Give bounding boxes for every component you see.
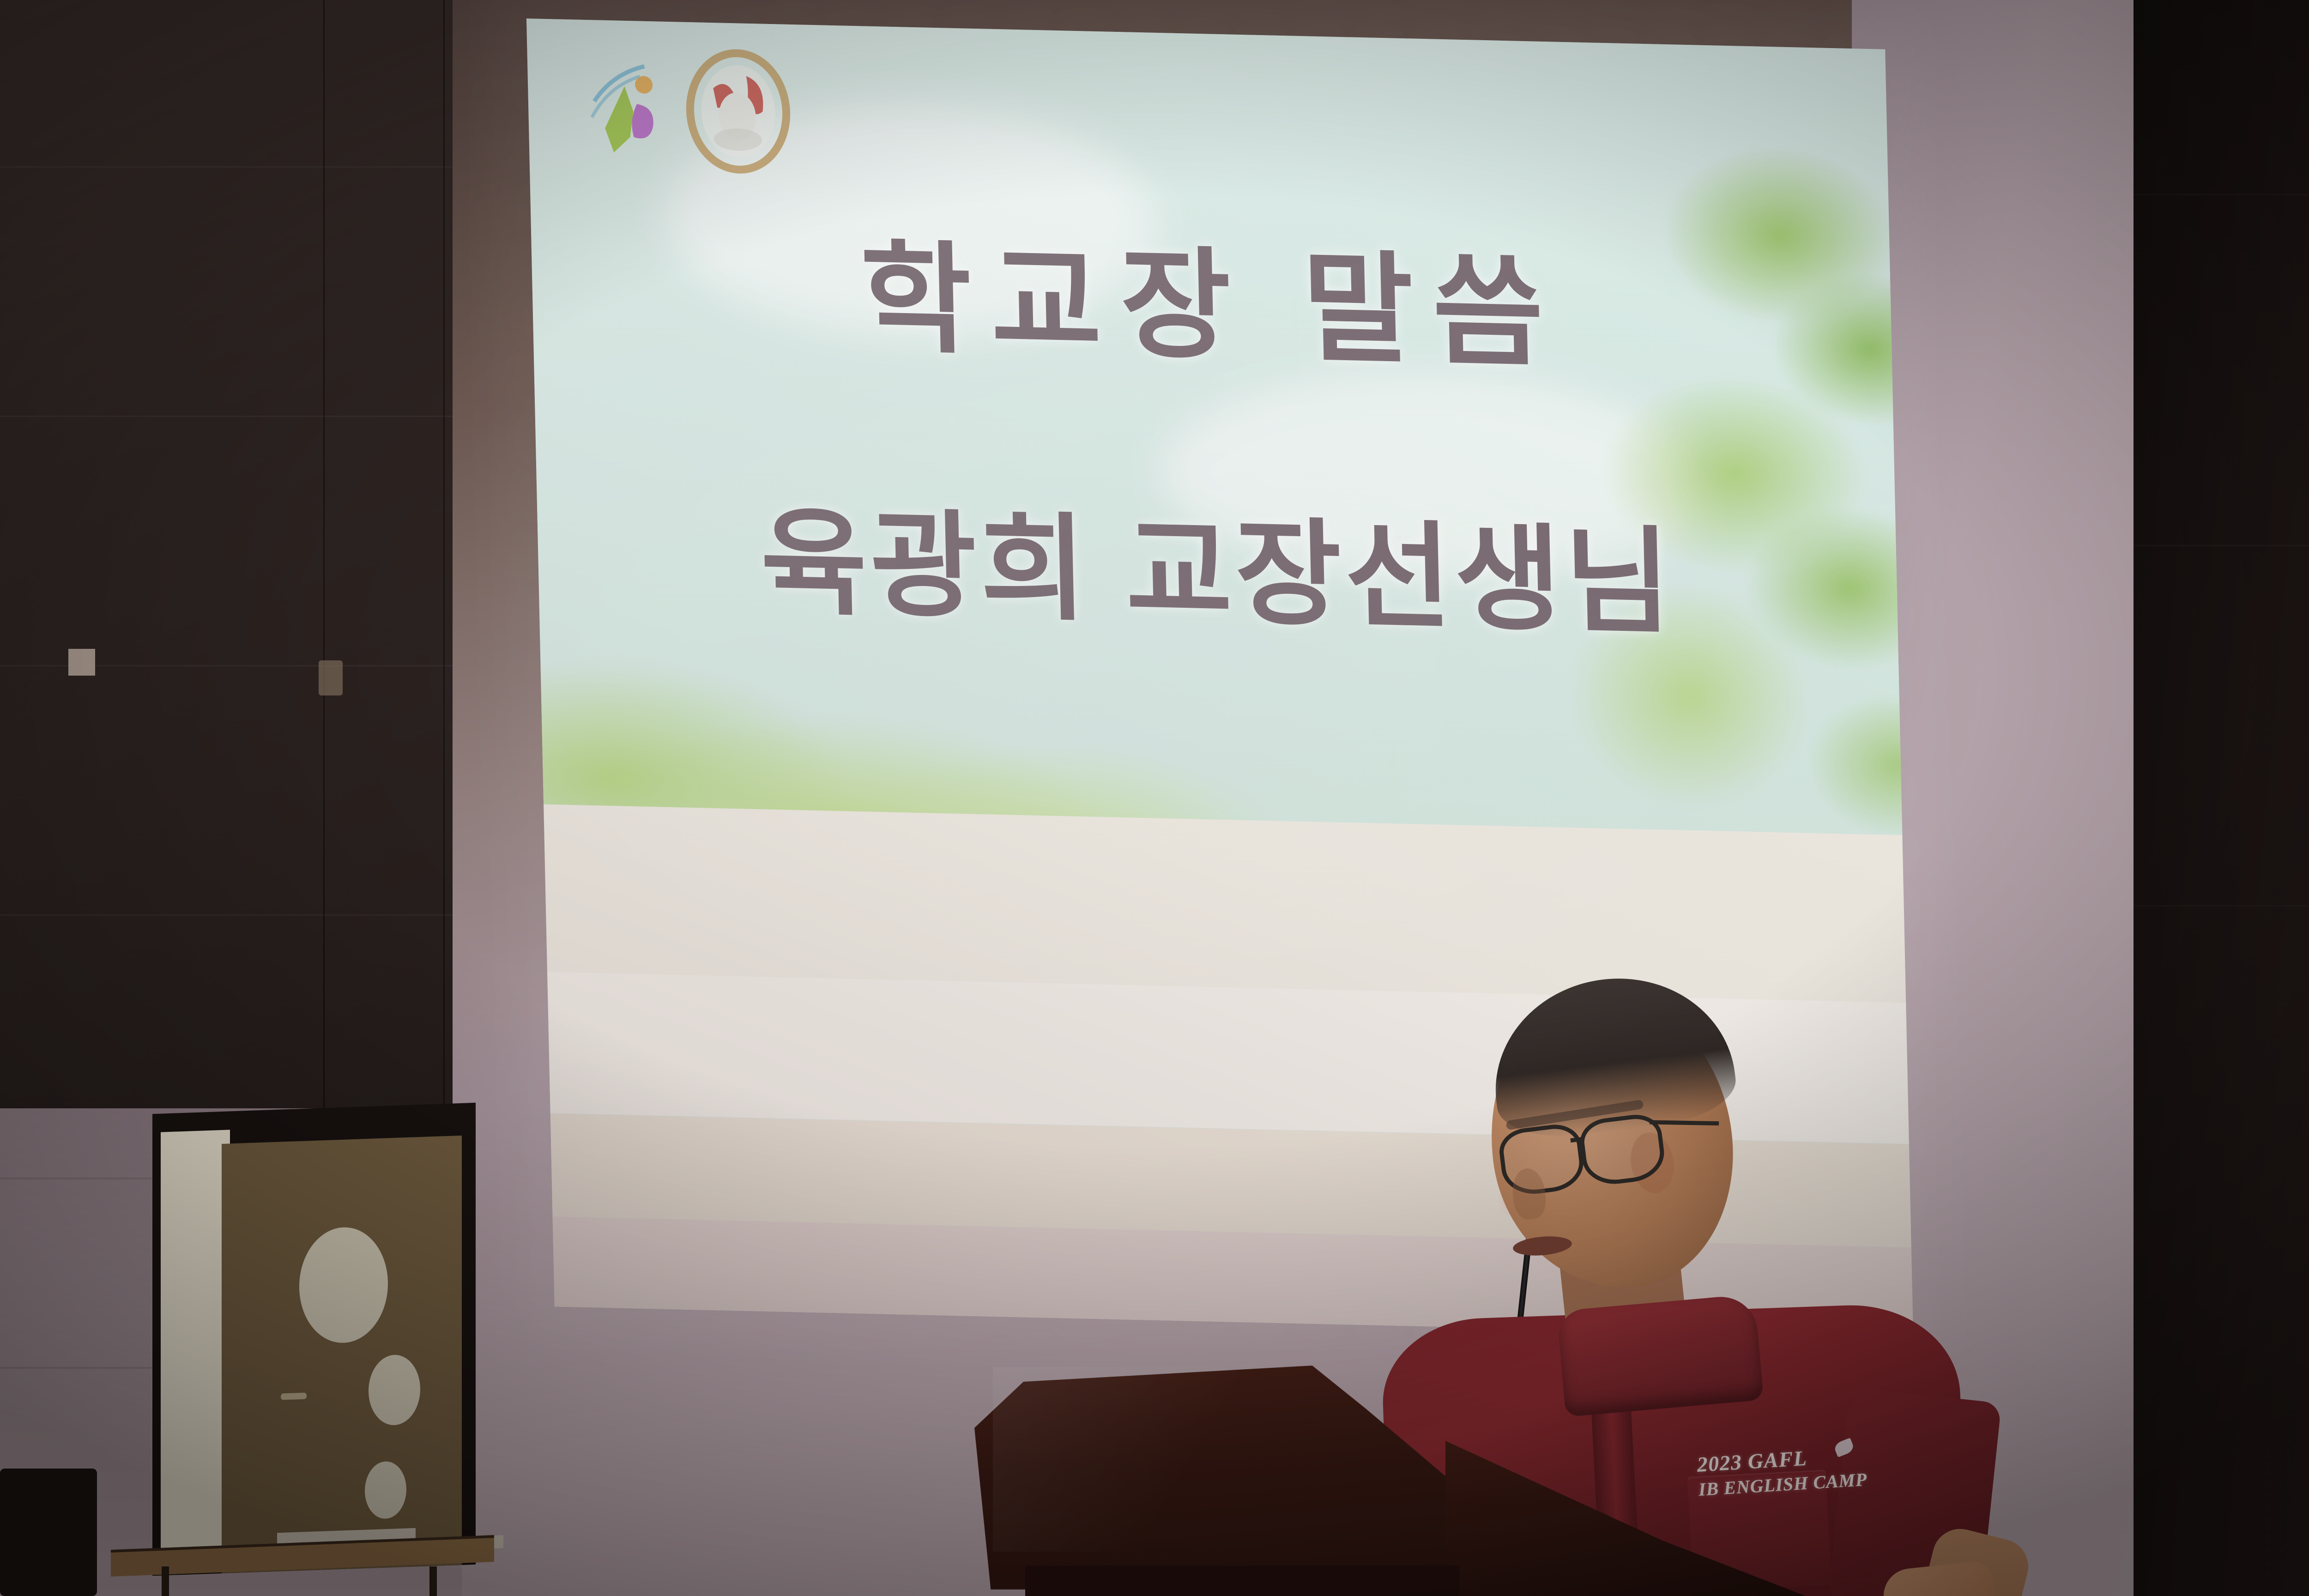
school-emblem-logo (684, 48, 793, 175)
photo-scene: 학교장 말씀 육광희 교장선생님 2023 GAFL (0, 0, 2309, 1596)
table-leg-left (162, 1566, 169, 1596)
side-table (111, 1524, 494, 1596)
slide-title-line2: 육광희 교장선생님 (536, 463, 1898, 661)
door-porthole-large (299, 1226, 388, 1344)
right-dark-wall (2134, 0, 2309, 1596)
wooden-lectern (974, 1348, 1806, 1596)
lectern-base (1025, 1566, 1459, 1596)
slide-title-line1: 학교장 말씀 (530, 193, 1892, 398)
floor-equipment-box (0, 1469, 97, 1596)
camp-abstract-logo (584, 55, 670, 163)
table-leg-right (429, 1566, 437, 1596)
wall-sign (68, 649, 95, 676)
left-dark-wall-panels (0, 0, 453, 1122)
exit-door[interactable] (152, 1103, 476, 1576)
door-porthole-small (365, 1461, 406, 1519)
door-panel (222, 1136, 462, 1573)
lectern-front-panel (974, 1359, 1519, 1590)
wall-fixture-icon (319, 660, 343, 695)
glasses-temple (1650, 1120, 1719, 1126)
slide-logo-row (584, 46, 793, 175)
door-handle[interactable] (281, 1393, 307, 1400)
door-porthole-medium (369, 1354, 420, 1426)
lectern-side-panel (1445, 1441, 1806, 1596)
door-light-gap (161, 1130, 230, 1566)
